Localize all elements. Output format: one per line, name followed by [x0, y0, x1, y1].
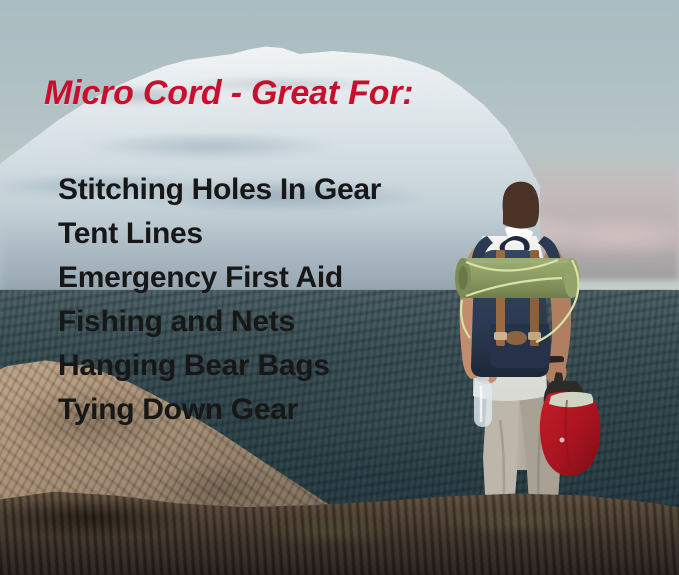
hiker-head	[503, 182, 540, 229]
list-item: Fishing and Nets	[58, 300, 381, 344]
list-item: Hanging Bear Bags	[58, 344, 381, 388]
list-item: Tent Lines	[58, 212, 381, 256]
page-title: Micro Cord - Great For:	[44, 74, 413, 113]
product-poster: Micro Cord - Great For: Stitching Holes …	[0, 0, 679, 575]
list-item: Stitching Holes In Gear	[58, 168, 381, 212]
red-stuff-sack	[540, 372, 601, 476]
list-item: Emergency First Aid	[58, 256, 381, 300]
water-bottle	[474, 374, 492, 427]
use-case-list: Stitching Holes In Gear Tent Lines Emerg…	[58, 168, 381, 432]
list-item: Tying Down Gear	[58, 388, 381, 432]
